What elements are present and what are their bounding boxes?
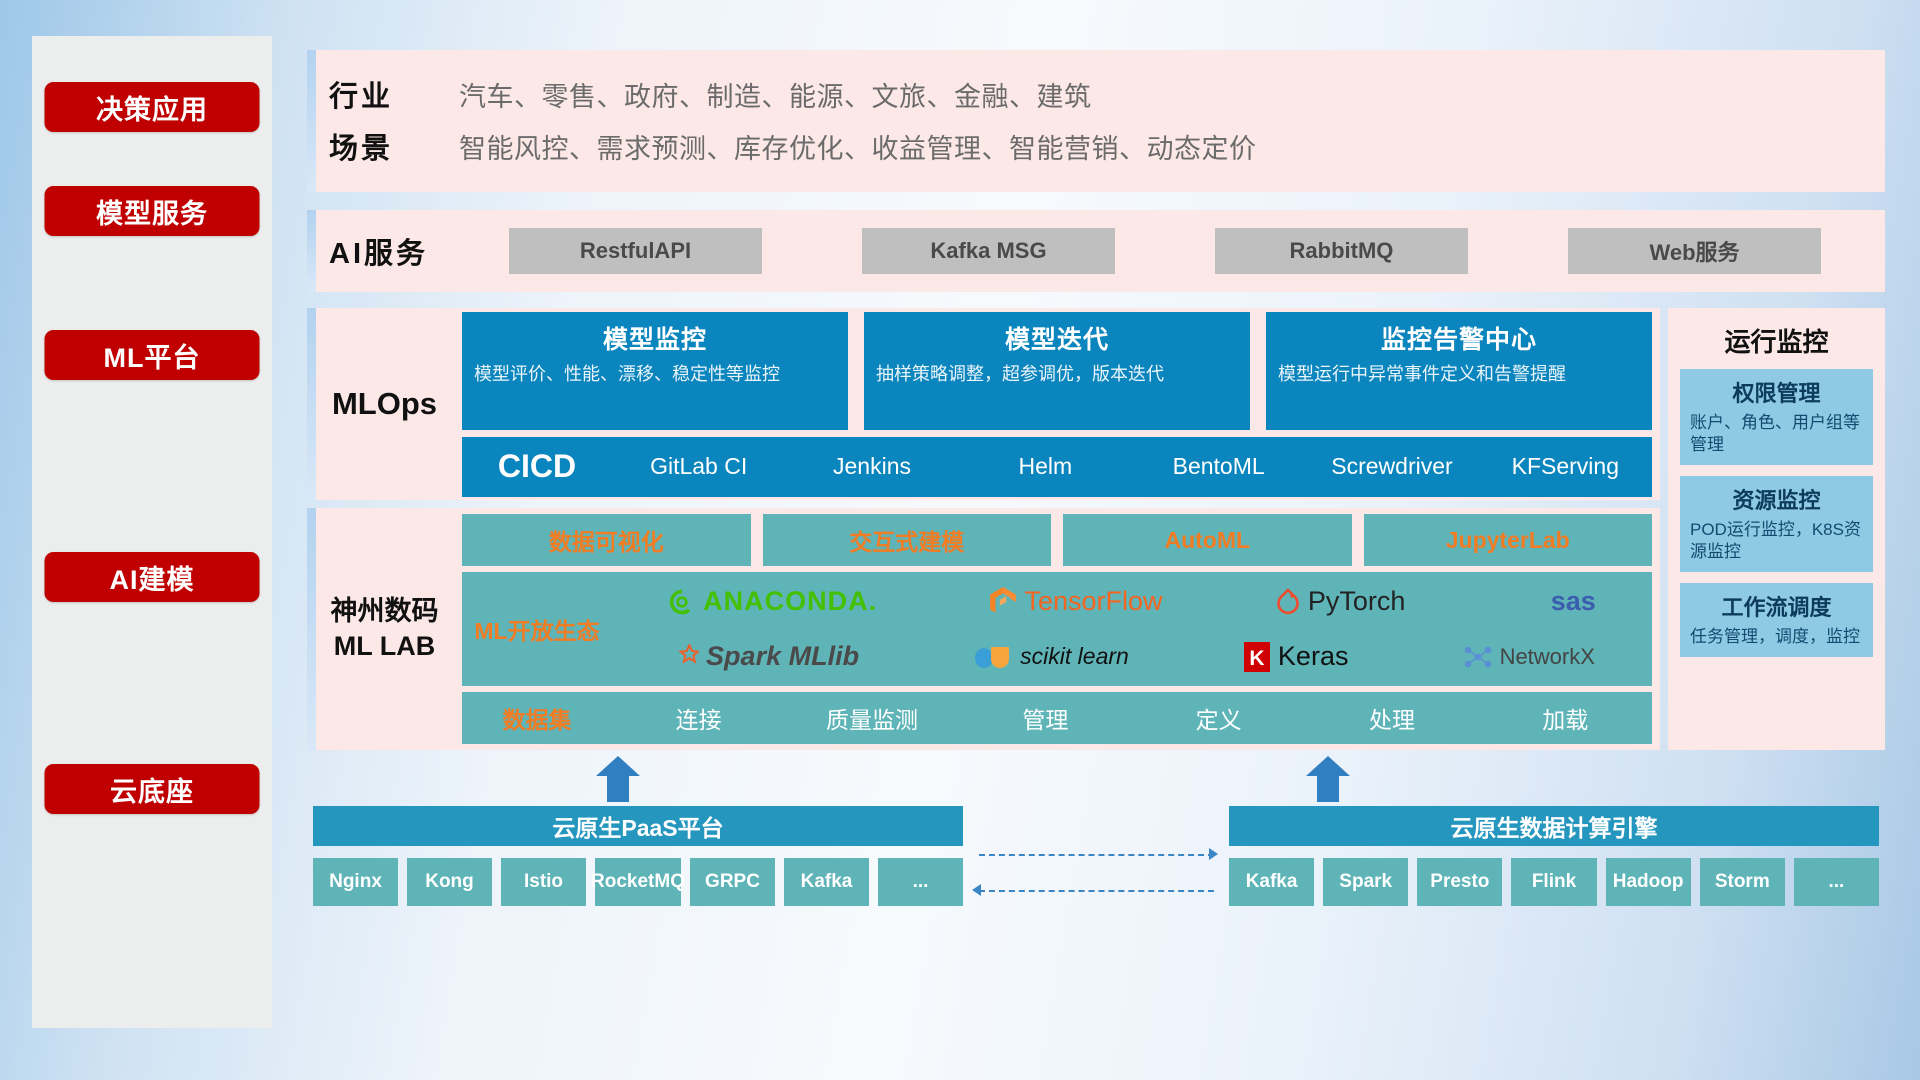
card-desc: 模型运行中异常事件定义和告警提醒 bbox=[1278, 363, 1640, 387]
sas-icon bbox=[1518, 589, 1544, 615]
svg-text:K: K bbox=[1249, 647, 1264, 670]
rail-item-ai-modeling[interactable]: AI建模 bbox=[45, 552, 260, 602]
paas-chip-row: Nginx Kong Istio RocketMQ GRPC Kafka ... bbox=[313, 858, 963, 906]
arrow-up-paas-head bbox=[596, 756, 640, 776]
cicd-title: CICD bbox=[462, 448, 612, 485]
lab-tool-jupyterlab[interactable]: JupyterLab bbox=[1364, 514, 1653, 566]
lab-dataset-row: 数据集 连接 质量监测 管理 定义 处理 加载 bbox=[462, 692, 1652, 744]
dataset-step-manage[interactable]: 管理 bbox=[959, 701, 1132, 735]
mlops-key: MLOps bbox=[307, 386, 462, 422]
ml-lab-key: 神州数码 ML LAB bbox=[307, 594, 462, 664]
scikit-learn-label: scikit learn bbox=[1020, 643, 1129, 670]
layer-rail: 决策应用 模型服务 ML平台 AI建模 云底座 bbox=[32, 36, 272, 1028]
card-desc: 账户、角色、用户组等管理 bbox=[1690, 412, 1863, 456]
rail-label: 模型服务 bbox=[96, 192, 208, 231]
networkx-label: NetworkX bbox=[1500, 644, 1595, 670]
cicd-bar: CICD GitLab CI Jenkins Helm BentoML Scre… bbox=[462, 437, 1652, 497]
card-desc: POD运行监控，K8S资源监控 bbox=[1690, 519, 1863, 563]
card-desc: 任务管理，调度，监控 bbox=[1690, 626, 1863, 648]
monitoring-title: 运行监控 bbox=[1680, 322, 1873, 359]
connector-arrow-left bbox=[972, 884, 981, 896]
ai-chip-rabbitmq[interactable]: RabbitMQ bbox=[1215, 228, 1468, 274]
mlops-card-row: 模型监控 模型评价、性能、漂移、稳定性等监控 模型迭代 抽样策略调整，超参调优，… bbox=[462, 312, 1652, 430]
ml-lab-content: 数据可视化 交互式建模 AutoML JupyterLab ML开放生态 bbox=[462, 514, 1660, 744]
sas-label: sas bbox=[1551, 586, 1596, 617]
rail-label: 决策应用 bbox=[96, 88, 208, 127]
mlops-content: 模型监控 模型评价、性能、漂移、稳定性等监控 模型迭代 抽样策略调整，超参调优，… bbox=[462, 312, 1660, 497]
band-mlops: MLOps 模型监控 模型评价、性能、漂移、稳定性等监控 模型迭代 抽样策略调整… bbox=[307, 308, 1660, 500]
arrow-up-paas-stem bbox=[607, 774, 629, 802]
mlops-card-model-iteration[interactable]: 模型迭代 抽样策略调整，超参调优，版本迭代 bbox=[864, 312, 1250, 430]
dataset-label: 数据集 bbox=[462, 701, 612, 735]
dataset-step-process[interactable]: 处理 bbox=[1305, 701, 1478, 735]
mlops-card-model-monitoring[interactable]: 模型监控 模型评价、性能、漂移、稳定性等监控 bbox=[462, 312, 848, 430]
eco-logo-grid: ANACONDA. TensorFlow bbox=[612, 574, 1652, 684]
band-edge bbox=[307, 308, 316, 500]
rail-item-model-service[interactable]: 模型服务 bbox=[45, 186, 260, 236]
connector-arrow-right bbox=[1209, 848, 1218, 860]
arrow-up-engine-stem bbox=[1317, 774, 1339, 802]
paas-chip-nginx[interactable]: Nginx bbox=[313, 858, 398, 906]
paas-chip-istio[interactable]: Istio bbox=[501, 858, 586, 906]
card-desc: 模型评价、性能、漂移、稳定性等监控 bbox=[474, 363, 836, 387]
engine-chip-kafka[interactable]: Kafka bbox=[1229, 858, 1314, 906]
spark-mllib-logo: Spark MLlib bbox=[669, 641, 859, 672]
industry-value: 汽车、零售、政府、制造、能源、文旅、金融、建筑 bbox=[459, 75, 1092, 114]
keras-label: Keras bbox=[1278, 641, 1349, 672]
band-cloud-base: 云原生PaaS平台 Nginx Kong Istio RocketMQ GRPC… bbox=[307, 762, 1885, 922]
tensorflow-logo: TensorFlow bbox=[989, 586, 1162, 617]
engine-chip-row: Kafka Spark Presto Flink Hadoop Storm ..… bbox=[1229, 858, 1879, 906]
architecture-diagram: 决策应用 模型服务 ML平台 AI建模 云底座 行业 汽车、零售、政府、制造、能… bbox=[0, 0, 1920, 1080]
cloud-group-paas: 云原生PaaS平台 Nginx Kong Istio RocketMQ GRPC… bbox=[313, 806, 963, 906]
cicd-item-screwdriver[interactable]: Screwdriver bbox=[1305, 455, 1478, 478]
card-title: 监控告警中心 bbox=[1278, 320, 1640, 356]
cicd-item-kfserving[interactable]: KFServing bbox=[1479, 455, 1652, 478]
cicd-item-gitlab[interactable]: GitLab CI bbox=[612, 455, 785, 478]
paas-chip-grpc[interactable]: GRPC bbox=[690, 858, 775, 906]
ml-lab-key-line1: 神州数码 bbox=[307, 594, 462, 629]
lab-tool-interactive-modeling[interactable]: 交互式建模 bbox=[763, 514, 1052, 566]
band-ai-service: AI服务 RestfulAPI Kafka MSG RabbitMQ Web服务 bbox=[307, 210, 1885, 292]
pytorch-icon bbox=[1275, 588, 1301, 616]
scenario-row: 场景 智能风控、需求预测、库存优化、收益管理、智能营销、动态定价 bbox=[329, 120, 1885, 172]
lab-tool-automl[interactable]: AutoML bbox=[1063, 514, 1352, 566]
engine-chip-more[interactable]: ... bbox=[1794, 858, 1879, 906]
band-edge bbox=[307, 508, 316, 750]
scikit-learn-logo: scikit learn bbox=[973, 643, 1129, 671]
pytorch-label: PyTorch bbox=[1308, 586, 1406, 617]
runtime-monitoring-column: 运行监控 权限管理 账户、角色、用户组等管理 资源监控 POD运行监控，K8S资… bbox=[1668, 308, 1885, 750]
sas-logo: sas bbox=[1518, 586, 1596, 617]
monitor-card-permissions[interactable]: 权限管理 账户、角色、用户组等管理 bbox=[1680, 369, 1873, 465]
keras-icon: K bbox=[1243, 642, 1271, 672]
eco-label: ML开放生态 bbox=[462, 612, 612, 646]
eco-logo-row-2: Spark MLlib scikit learn bbox=[612, 629, 1652, 684]
cloud-group-data-engine: 云原生数据计算引擎 Kafka Spark Presto Flink Hadoo… bbox=[1229, 806, 1879, 906]
tensorflow-icon bbox=[989, 587, 1017, 617]
lab-tool-row: 数据可视化 交互式建模 AutoML JupyterLab bbox=[462, 514, 1652, 566]
rail-label: AI建模 bbox=[110, 558, 195, 597]
card-title: 资源监控 bbox=[1690, 483, 1863, 515]
card-title: 工作流调度 bbox=[1690, 590, 1863, 622]
connector-dashed-top bbox=[979, 854, 1214, 856]
dataset-step-define[interactable]: 定义 bbox=[1132, 701, 1305, 735]
monitor-card-resources[interactable]: 资源监控 POD运行监控，K8S资源监控 bbox=[1680, 476, 1873, 572]
engine-chip-flink[interactable]: Flink bbox=[1511, 858, 1596, 906]
monitor-card-workflow[interactable]: 工作流调度 任务管理，调度，监控 bbox=[1680, 583, 1873, 657]
rail-item-cloud-base[interactable]: 云底座 bbox=[45, 764, 260, 814]
ai-chip-kafka[interactable]: Kafka MSG bbox=[862, 228, 1115, 274]
anaconda-logo: ANACONDA. bbox=[668, 586, 877, 617]
card-title: 权限管理 bbox=[1690, 376, 1863, 408]
card-title: 模型监控 bbox=[474, 320, 836, 356]
card-title: 模型迭代 bbox=[876, 320, 1238, 356]
engine-chip-storm[interactable]: Storm bbox=[1700, 858, 1785, 906]
band-edge bbox=[307, 210, 316, 292]
ai-service-key: AI服务 bbox=[329, 230, 459, 272]
industry-row: 行业 汽车、零售、政府、制造、能源、文旅、金融、建筑 bbox=[329, 68, 1885, 120]
anaconda-icon bbox=[668, 588, 696, 616]
rail-label: 云底座 bbox=[110, 770, 194, 809]
ai-service-chips: RestfulAPI Kafka MSG RabbitMQ Web服务 bbox=[459, 228, 1885, 274]
lab-open-ecosystem: ML开放生态 ANACONDA. bbox=[462, 572, 1652, 686]
lab-tool-data-viz[interactable]: 数据可视化 bbox=[462, 514, 751, 566]
card-desc: 抽样策略调整，超参调优，版本迭代 bbox=[876, 363, 1238, 387]
mlops-card-alert-center[interactable]: 监控告警中心 模型运行中异常事件定义和告警提醒 bbox=[1266, 312, 1652, 430]
scenario-value: 智能风控、需求预测、库存优化、收益管理、智能营销、动态定价 bbox=[459, 127, 1257, 166]
pytorch-logo: PyTorch bbox=[1275, 586, 1406, 617]
industry-key: 行业 bbox=[329, 73, 459, 115]
engine-chip-presto[interactable]: Presto bbox=[1417, 858, 1502, 906]
networkx-logo: NetworkX bbox=[1463, 643, 1595, 671]
spark-icon bbox=[669, 644, 699, 670]
eco-logo-row-1: ANACONDA. TensorFlow bbox=[612, 574, 1652, 629]
band-ml-lab: 神州数码 ML LAB 数据可视化 交互式建模 AutoML JupyterLa… bbox=[307, 508, 1660, 750]
cicd-item-helm[interactable]: Helm bbox=[959, 455, 1132, 478]
keras-logo: K Keras bbox=[1243, 641, 1349, 672]
cicd-item-jenkins[interactable]: Jenkins bbox=[785, 455, 958, 478]
rail-item-decision-apps[interactable]: 决策应用 bbox=[45, 82, 260, 132]
ai-chip-restful[interactable]: RestfulAPI bbox=[509, 228, 762, 274]
scikit-learn-icon bbox=[973, 643, 1013, 671]
paas-chip-more[interactable]: ... bbox=[878, 858, 963, 906]
band-edge bbox=[307, 50, 316, 192]
engine-header: 云原生数据计算引擎 bbox=[1229, 806, 1879, 846]
paas-header: 云原生PaaS平台 bbox=[313, 806, 963, 846]
dataset-step-quality[interactable]: 质量监测 bbox=[785, 701, 958, 735]
networkx-icon bbox=[1463, 643, 1493, 671]
tensorflow-label: TensorFlow bbox=[1024, 586, 1162, 617]
scenario-key: 场景 bbox=[329, 125, 459, 167]
connector-dashed-bottom bbox=[979, 890, 1214, 892]
rail-label: ML平台 bbox=[104, 336, 201, 375]
ai-chip-web[interactable]: Web服务 bbox=[1568, 228, 1821, 274]
cicd-item-bentoml[interactable]: BentoML bbox=[1132, 455, 1305, 478]
paas-chip-rocketmq[interactable]: RocketMQ bbox=[595, 858, 681, 906]
spark-label: Spark MLlib bbox=[706, 641, 859, 672]
paas-chip-kong[interactable]: Kong bbox=[407, 858, 492, 906]
dataset-step-load[interactable]: 加载 bbox=[1479, 701, 1652, 735]
engine-chip-spark[interactable]: Spark bbox=[1323, 858, 1408, 906]
band-decision-apps: 行业 汽车、零售、政府、制造、能源、文旅、金融、建筑 场景 智能风控、需求预测、… bbox=[307, 50, 1885, 192]
ml-lab-key-line2: ML LAB bbox=[307, 629, 462, 664]
dataset-step-connect[interactable]: 连接 bbox=[612, 701, 785, 735]
anaconda-label: ANACONDA. bbox=[703, 586, 877, 617]
engine-chip-hadoop[interactable]: Hadoop bbox=[1606, 858, 1691, 906]
arrow-up-engine-head bbox=[1306, 756, 1350, 776]
paas-chip-kafka[interactable]: Kafka bbox=[784, 858, 869, 906]
rail-item-ml-platform[interactable]: ML平台 bbox=[45, 330, 260, 380]
